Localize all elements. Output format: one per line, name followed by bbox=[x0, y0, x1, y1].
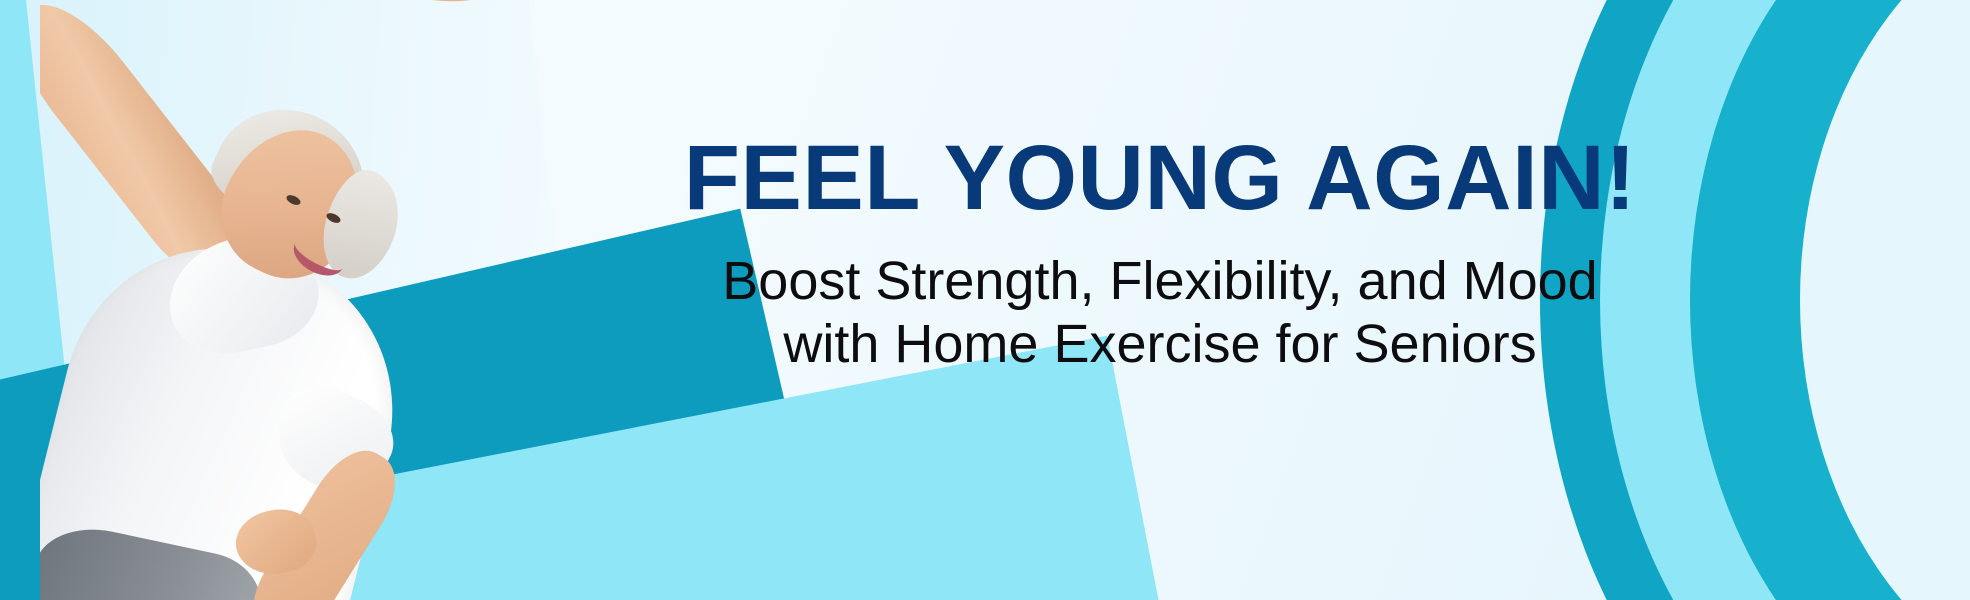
banner-subtitle-line-2: with Home Exercise for Seniors bbox=[460, 313, 1860, 376]
raised-forearm bbox=[287, 0, 500, 19]
hero-banner: FEEL YOUNG AGAIN! Boost Strength, Flexib… bbox=[0, 0, 1970, 600]
senior-woman-photo bbox=[40, 0, 500, 600]
banner-subtitle: Boost Strength, Flexibility, and Mood wi… bbox=[460, 250, 1860, 375]
banner-headline: FEEL YOUNG AGAIN! bbox=[460, 132, 1860, 224]
banner-subtitle-line-1: Boost Strength, Flexibility, and Mood bbox=[460, 250, 1860, 313]
banner-text-block: FEEL YOUNG AGAIN! Boost Strength, Flexib… bbox=[460, 132, 1860, 375]
